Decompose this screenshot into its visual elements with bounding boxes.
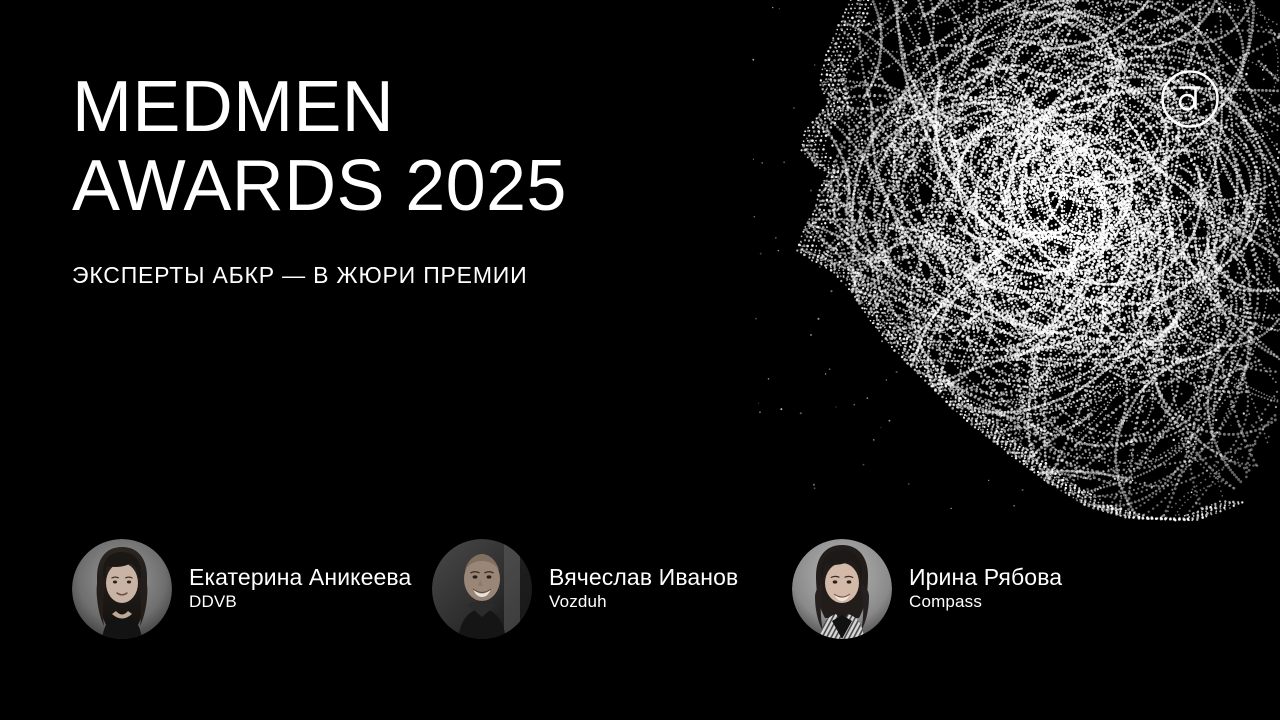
jury-member: Вячеслав Иванов Vozduh [432, 537, 738, 641]
abkr-circle-logo [1159, 68, 1221, 130]
jury-member-name: Вячеслав Иванов [549, 565, 738, 591]
jury-member-text: Екатерина Аникеева DDVB [189, 565, 411, 612]
slide-root: MEDMEN AWARDS 2025 ЭКСПЕРТЫ АБКР — В ЖЮР… [0, 0, 1280, 720]
page-subtitle: ЭКСПЕРТЫ АБКР — В ЖЮРИ ПРЕМИИ [72, 262, 762, 289]
jury-member-text: Вячеслав Иванов Vozduh [549, 565, 738, 612]
jury-member: Ирина Рябова Compass [792, 537, 1062, 641]
headline-block: MEDMEN AWARDS 2025 ЭКСПЕРТЫ АБКР — В ЖЮР… [72, 72, 762, 289]
jury-member-company: DDVB [189, 592, 411, 612]
jury-member-name: Екатерина Аникеева [189, 565, 411, 591]
page-title-line-2: AWARDS 2025 [72, 151, 762, 222]
page-title-line-1: MEDMEN [72, 72, 762, 143]
jury-members-row: Екатерина Аникеева DDVB [72, 537, 1208, 641]
jury-member-company: Compass [909, 592, 1062, 612]
avatar-irina-ryabova [792, 539, 892, 639]
jury-member: Екатерина Аникеева DDVB [72, 537, 411, 641]
jury-member-company: Vozduh [549, 592, 738, 612]
avatar-vyacheslav-ivanov [432, 539, 532, 639]
jury-member-name: Ирина Рябова [909, 565, 1062, 591]
avatar-ekaterina-anikeeva [72, 539, 172, 639]
jury-member-text: Ирина Рябова Compass [909, 565, 1062, 612]
